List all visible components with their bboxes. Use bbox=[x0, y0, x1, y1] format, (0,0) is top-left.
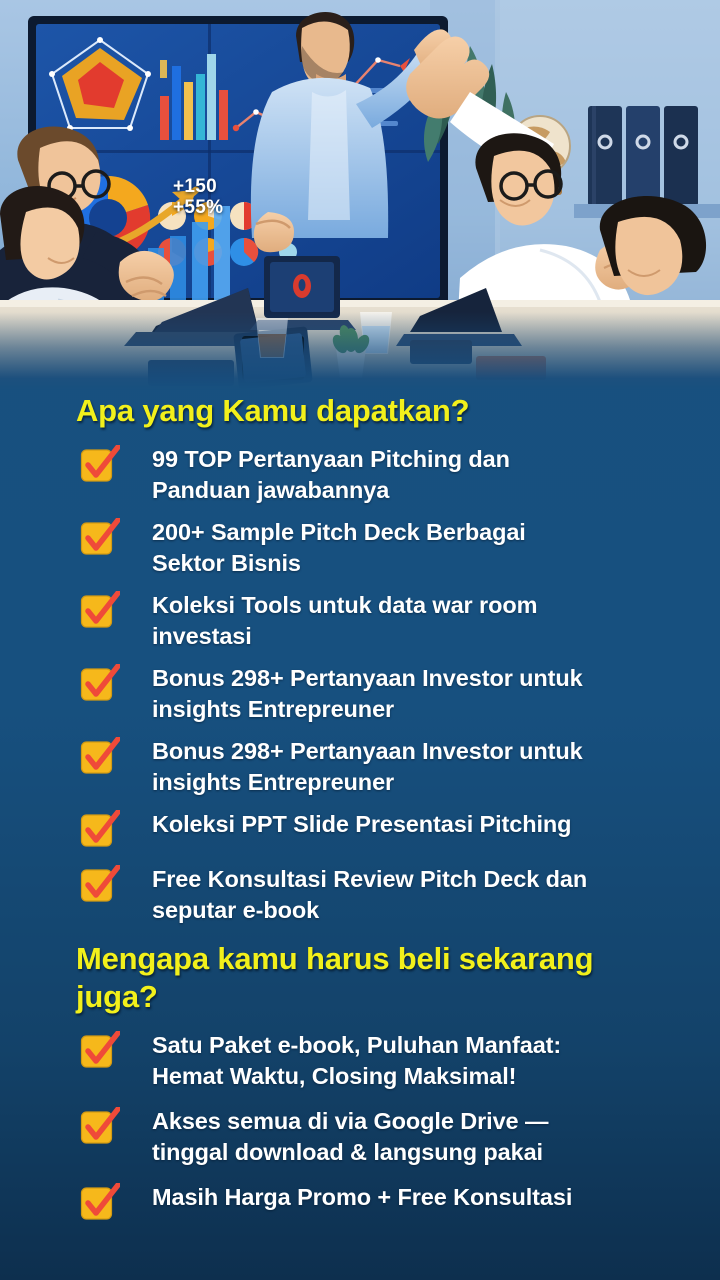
list-item: 99 TOP Pertanyaan Pitching dan Panduan j… bbox=[0, 444, 692, 506]
list-item: Masih Harga Promo + Free Konsultasi bbox=[0, 1182, 692, 1226]
urgency-heading: Mengapa kamu harus beli sekarang juga? bbox=[76, 940, 636, 1016]
checkbox-check-icon bbox=[80, 518, 120, 560]
checkbox-check-icon bbox=[80, 445, 120, 487]
list-item-label: Bonus 298+ Pertanyaan Investor untuk ins… bbox=[152, 736, 583, 798]
checkbox-check-icon bbox=[80, 1183, 120, 1225]
benefits-list: 99 TOP Pertanyaan Pitching dan Panduan j… bbox=[0, 444, 692, 926]
hero-artwork bbox=[0, 0, 720, 390]
list-item-label: Masih Harga Promo + Free Konsultasi bbox=[152, 1182, 572, 1213]
checkbox-check-icon bbox=[80, 591, 120, 633]
checkbox-check-icon bbox=[80, 1107, 120, 1149]
list-item: Free Konsultasi Review Pitch Deck dan se… bbox=[0, 864, 692, 926]
growth-stat-badge: +150 +55% bbox=[173, 176, 223, 218]
list-item-label: 99 TOP Pertanyaan Pitching dan Panduan j… bbox=[152, 444, 510, 506]
list-item-label: Satu Paket e-book, Puluhan Manfaat: Hema… bbox=[152, 1030, 561, 1092]
checkbox-check-icon bbox=[80, 664, 120, 706]
urgency-list: Satu Paket e-book, Puluhan Manfaat: Hema… bbox=[0, 1030, 692, 1226]
checkbox-check-icon bbox=[80, 737, 120, 779]
list-item-label: Koleksi Tools untuk data war room invest… bbox=[152, 590, 537, 652]
content-area: Apa yang Kamu dapatkan? 99 TOP Pertanyaa… bbox=[0, 388, 720, 1240]
promo-page: +150 +55% Apa yang Kamu dapatkan? 99 TOP… bbox=[0, 0, 720, 1280]
list-item: 200+ Sample Pitch Deck Berbagai Sektor B… bbox=[0, 517, 692, 579]
list-item-label: Bonus 298+ Pertanyaan Investor untuk ins… bbox=[152, 663, 583, 725]
notebook bbox=[410, 340, 472, 364]
hero-illustration: +150 +55% bbox=[0, 0, 720, 390]
checkbox-check-icon bbox=[80, 1031, 120, 1073]
benefits-heading: Apa yang Kamu dapatkan? bbox=[76, 392, 636, 430]
list-item: Satu Paket e-book, Puluhan Manfaat: Hema… bbox=[0, 1030, 692, 1092]
list-item-label: 200+ Sample Pitch Deck Berbagai Sektor B… bbox=[152, 517, 526, 579]
list-item-label: Akses semua di via Google Drive — tingga… bbox=[152, 1106, 548, 1168]
list-item: Akses semua di via Google Drive — tingga… bbox=[0, 1106, 692, 1168]
list-item: Bonus 298+ Pertanyaan Investor untuk ins… bbox=[0, 663, 692, 725]
coffee-glass bbox=[256, 318, 288, 358]
checkbox-check-icon bbox=[80, 810, 120, 852]
list-item-label: Free Konsultasi Review Pitch Deck dan se… bbox=[152, 864, 587, 926]
checkbox-check-icon bbox=[80, 865, 120, 907]
list-item: Koleksi PPT Slide Presentasi Pitching bbox=[0, 809, 692, 853]
list-item-label: Koleksi PPT Slide Presentasi Pitching bbox=[152, 809, 571, 840]
list-item: Koleksi Tools untuk data war room invest… bbox=[0, 590, 692, 652]
list-item: Bonus 298+ Pertanyaan Investor untuk ins… bbox=[0, 736, 692, 798]
